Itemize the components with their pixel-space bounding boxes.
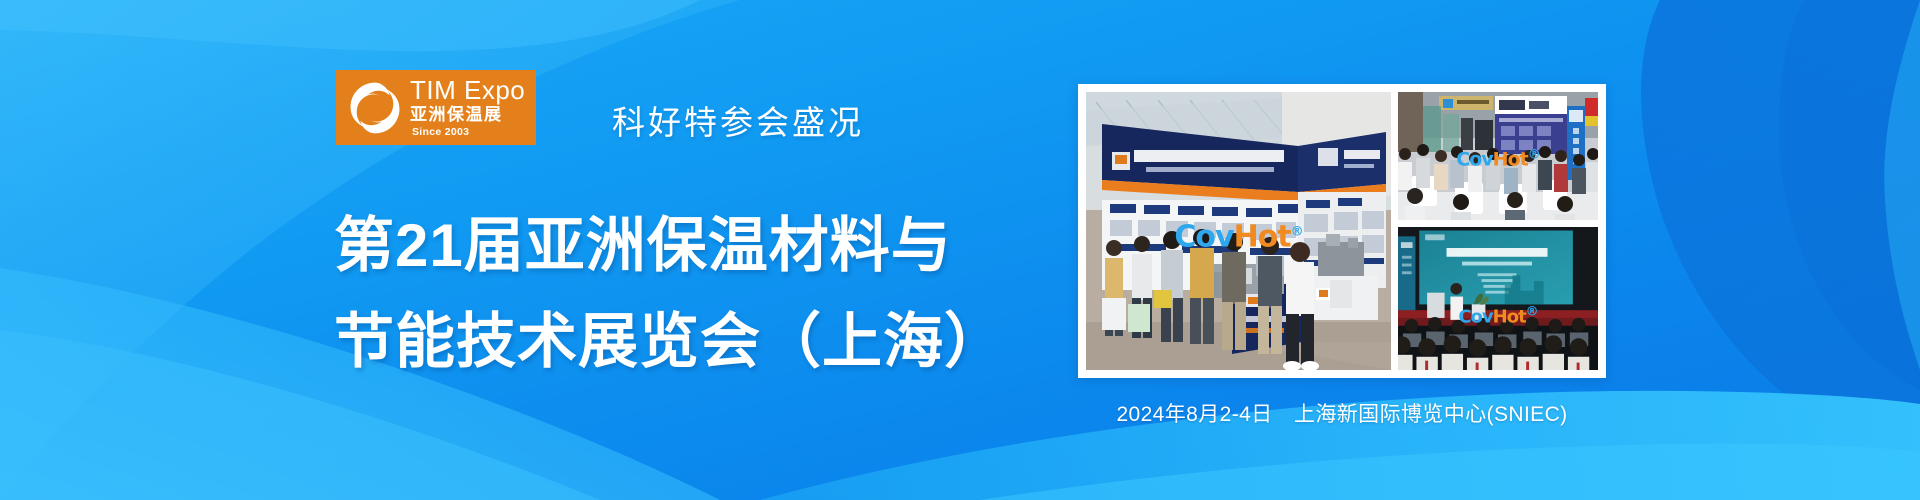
collage-left-column: CovHot® xyxy=(1086,92,1391,370)
page-title: 第21届亚洲保温材料与 节能技术展览会（上海） xyxy=(334,198,1005,390)
forum-presentation-photo[interactable]: CovHot® xyxy=(1398,227,1598,370)
logo-subtitle: 亚洲保温展 xyxy=(410,106,525,123)
tim-expo-swirl-icon xyxy=(346,79,404,137)
banner-subtitle: 科好特参会盛况 xyxy=(612,96,864,144)
event-date-venue: 2024年8月2-4日 上海新国际博览中心(SNIEC) xyxy=(1078,398,1606,428)
headline-line-2: 节能技术展览会（上海） xyxy=(334,294,1005,390)
banner-content: TIM Expo 亚洲保温展 Since 2003 科好特参会盛况 第21届亚洲… xyxy=(0,0,1060,500)
logo-since: Since 2003 xyxy=(410,127,525,138)
photo-collage: CovHot® xyxy=(1078,84,1606,378)
date-venue-text: 2024年8月2-4日 上海新国际博览中心(SNIEC) xyxy=(1116,403,1567,426)
tim-expo-logo[interactable]: TIM Expo 亚洲保温展 Since 2003 xyxy=(336,70,536,145)
exhibition-hall-crowd-photo[interactable]: CovHot® xyxy=(1398,92,1598,220)
headline-line-1: 第21届亚洲保温材料与 xyxy=(334,198,1005,294)
logo-title: TIM Expo xyxy=(410,77,525,103)
event-banner: TIM Expo 亚洲保温展 Since 2003 科好特参会盛况 第21届亚洲… xyxy=(0,0,1920,500)
collage-right-column: CovHot® xyxy=(1398,92,1598,370)
exhibition-booth-photo[interactable]: CovHot® xyxy=(1086,92,1391,370)
